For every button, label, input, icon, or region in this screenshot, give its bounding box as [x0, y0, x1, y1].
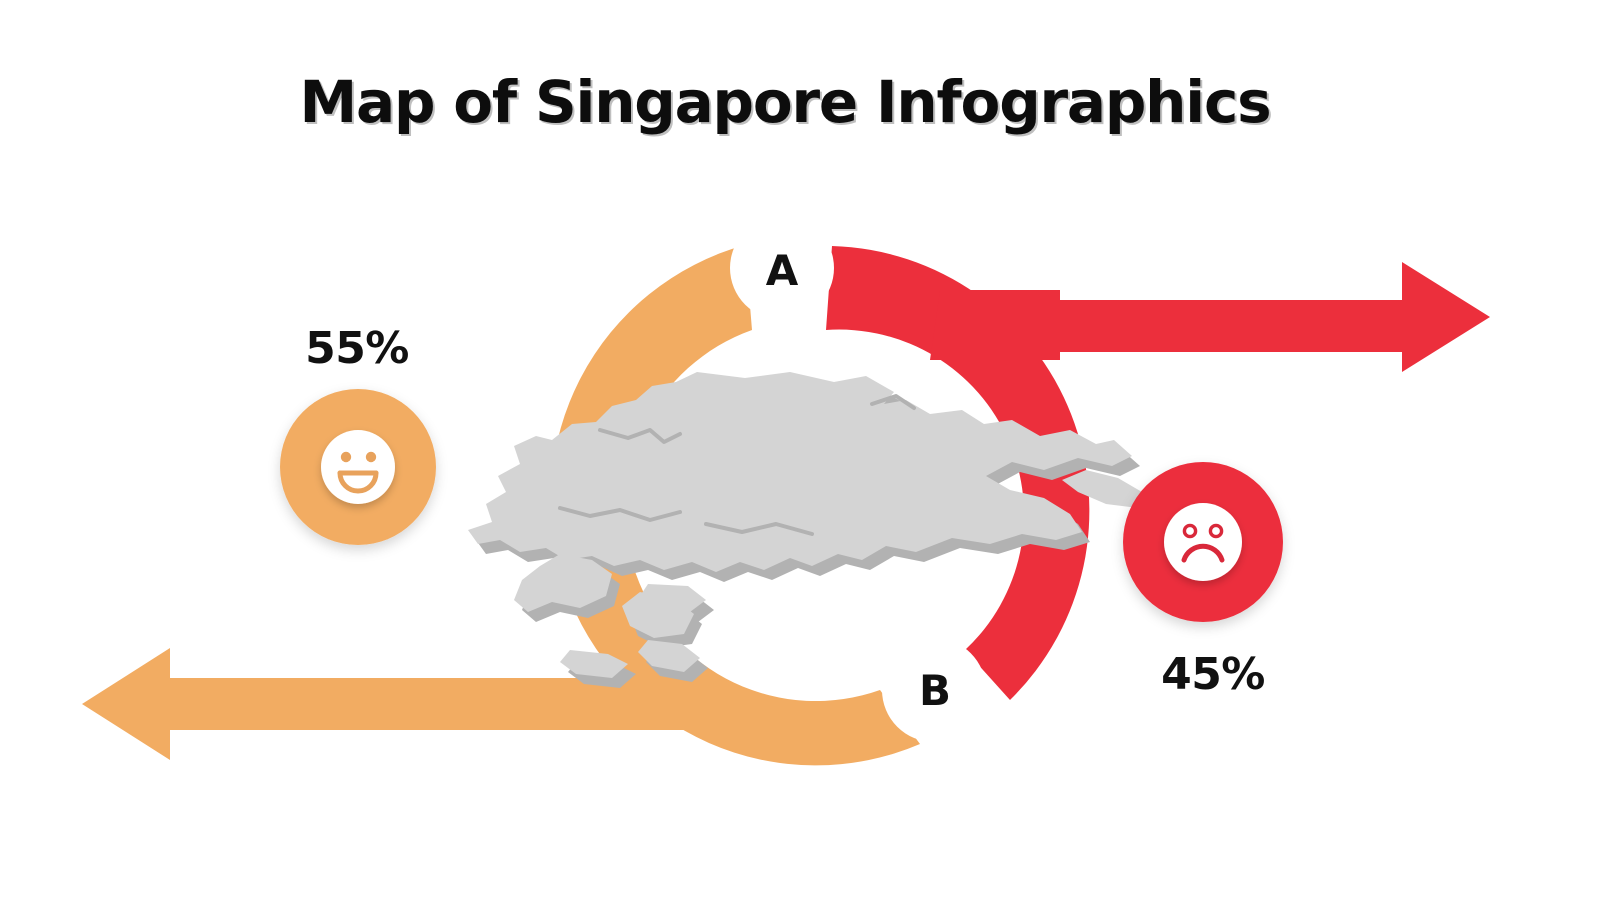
node-label-a: A — [766, 246, 799, 295]
node-label-b: B — [919, 666, 951, 715]
red-arrow-joint — [930, 290, 1060, 360]
orange-arrow-joint — [560, 678, 700, 730]
infographic-canvas: Map of Singapore Infographics — [0, 0, 1600, 900]
stat-red-group[interactable]: 45% — [1123, 462, 1283, 700]
percent-label-red: 45% — [1161, 649, 1265, 700]
badge-face-plate-red — [1164, 503, 1242, 581]
left-arrow-orange — [82, 648, 640, 760]
page-title: Map of Singapore Infographics — [300, 68, 1271, 136]
infographic-graphic: Map of Singapore Infographics — [0, 0, 1600, 900]
stat-orange-group[interactable]: 55% — [280, 323, 436, 545]
percent-label-orange: 55% — [305, 323, 409, 374]
